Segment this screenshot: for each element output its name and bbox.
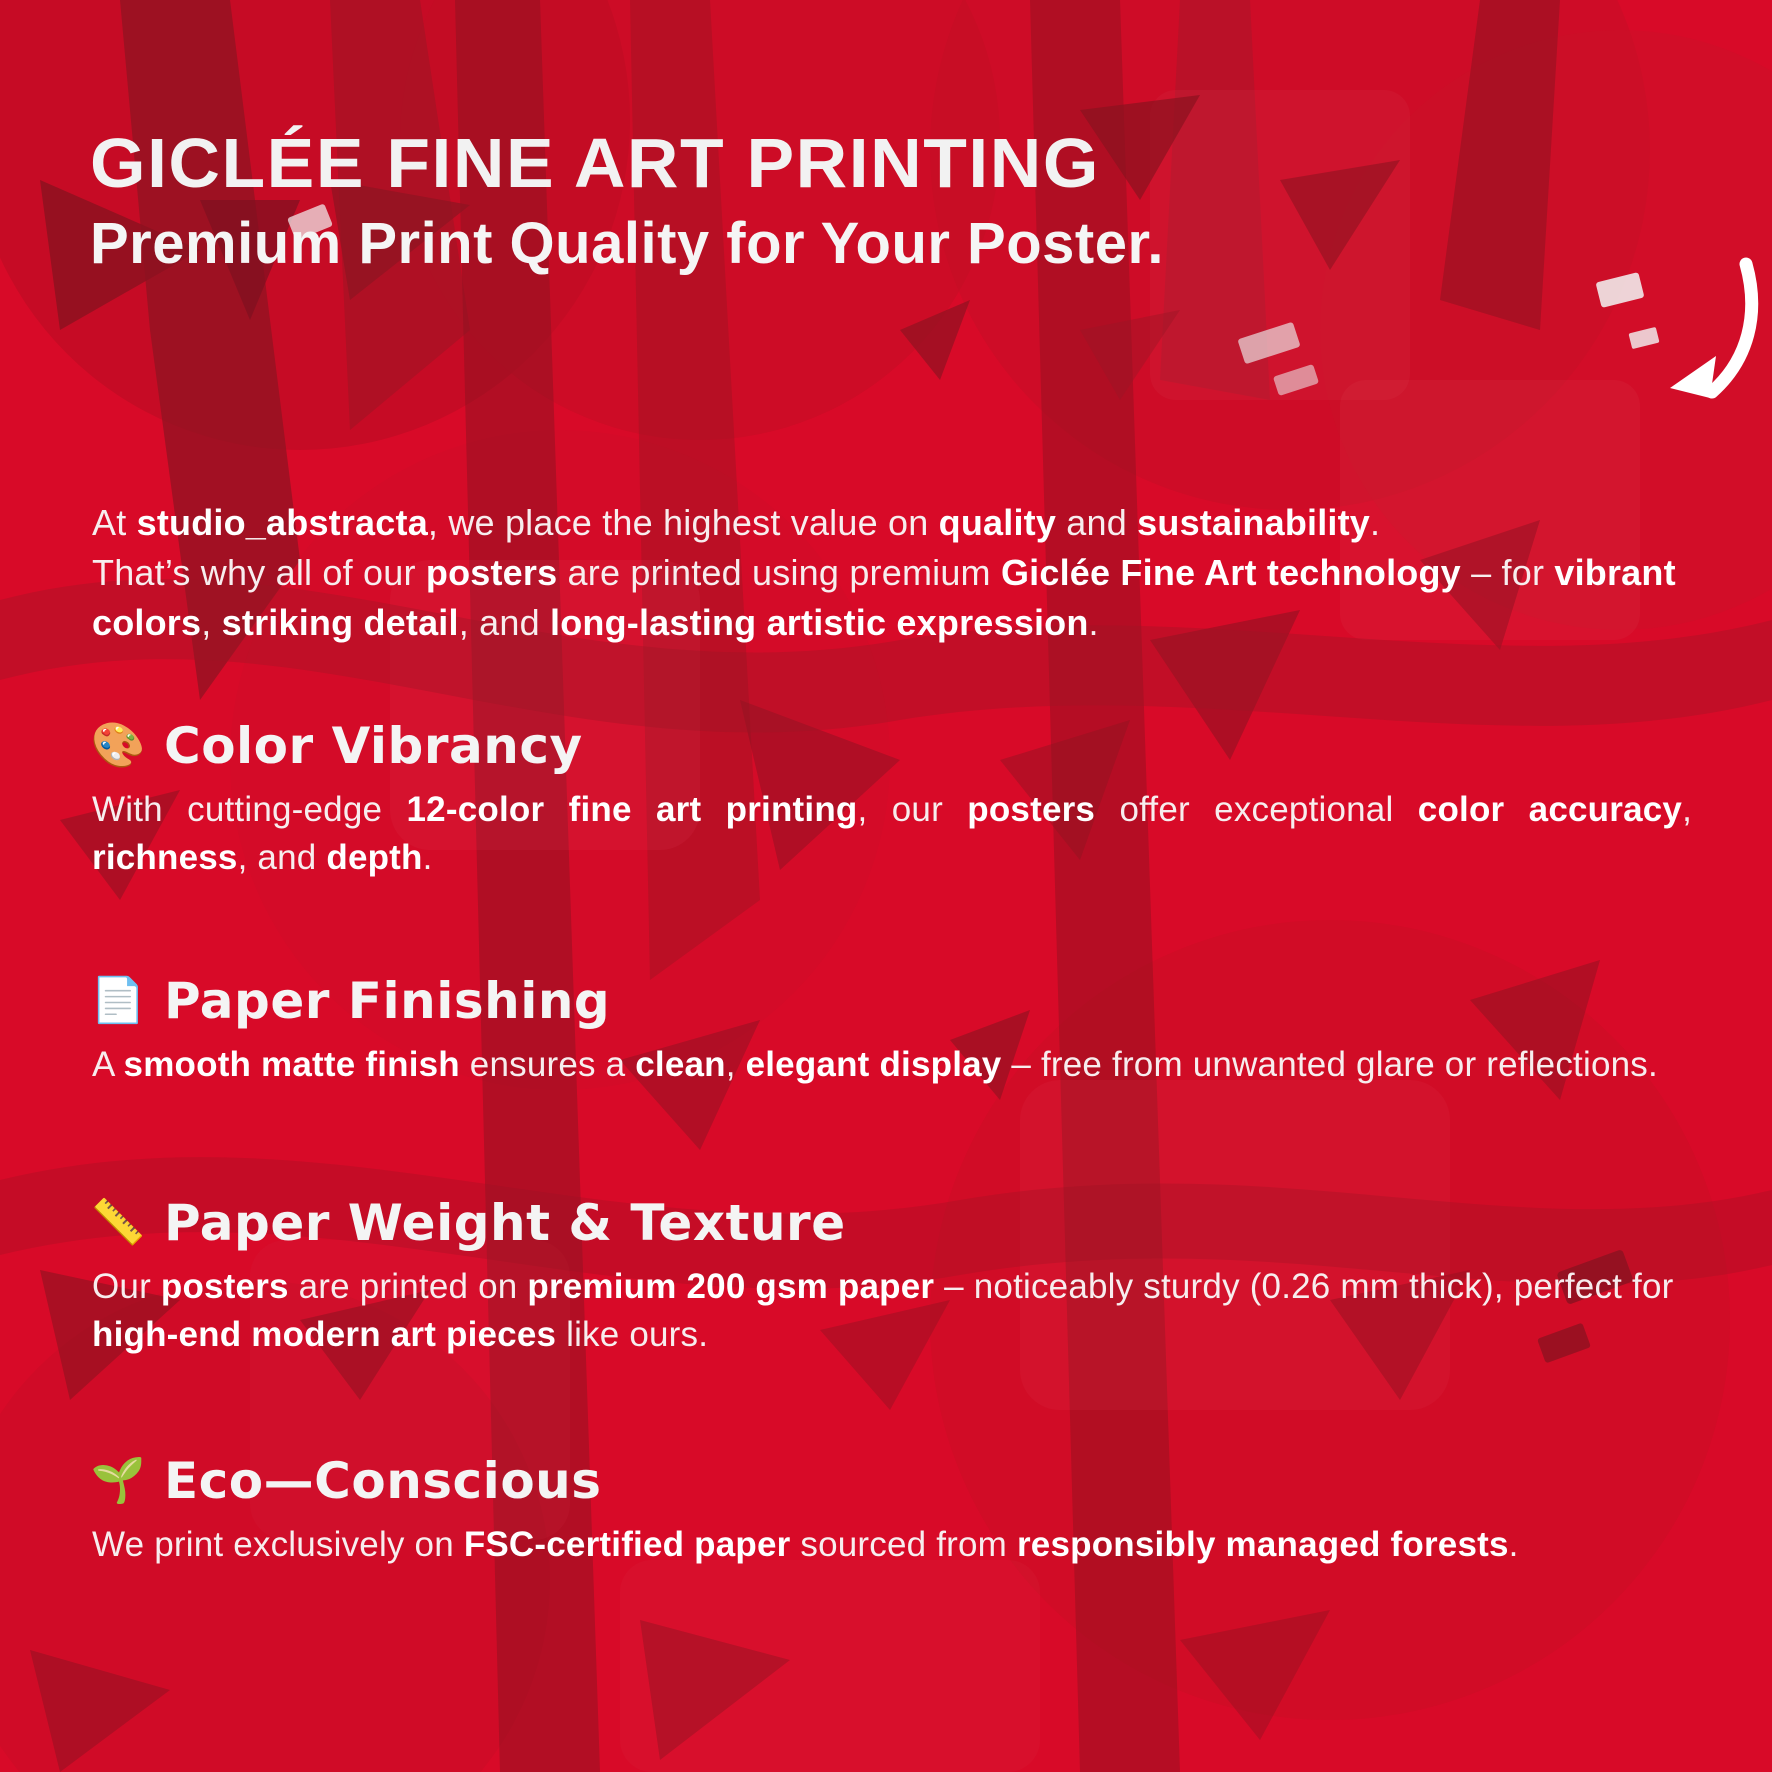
body-text: – noticeably sturdy (0.26 mm thick), per… — [934, 1267, 1673, 1306]
section-body: With cutting-edge 12-color fine art prin… — [92, 786, 1692, 882]
section-paper-weight-texture: 📏 Paper Weight & Texture Our posters are… — [92, 1197, 1702, 1359]
section-heading: 🌱 Eco—Conscious — [92, 1455, 1702, 1507]
hero-block: GICLÉE FINE ART PRINTING Premium Print Q… — [90, 128, 1690, 275]
keyword-fsc-certified-paper: FSC-certified paper — [464, 1525, 791, 1564]
body-text: We print exclusively on — [92, 1525, 464, 1564]
intro-text-7: – for — [1461, 552, 1554, 593]
body-text: . — [423, 838, 433, 877]
artist-palette-icon: 🎨 — [92, 720, 144, 772]
section-title: Paper Finishing — [164, 976, 610, 1026]
keyword-elegant-display: elegant display — [746, 1045, 1002, 1084]
body-text: , and — [238, 838, 327, 877]
body-text: Our — [92, 1267, 161, 1306]
section-heading: 📏 Paper Weight & Texture — [92, 1197, 1702, 1249]
keyword-giclee-technology: Giclée Fine Art technology — [1001, 552, 1461, 593]
body-text: A — [92, 1045, 124, 1084]
keyword-posters: posters — [161, 1267, 289, 1306]
intro-text-6: are printed using premium — [557, 552, 1001, 593]
section-color-vibrancy: 🎨 Color Vibrancy With cutting-edge 12-co… — [92, 720, 1702, 882]
body-text: offer exceptional — [1095, 790, 1418, 829]
page-title: GICLÉE FINE ART PRINTING — [90, 128, 1722, 198]
intro-paragraph: At studio_abstracta, we place the highes… — [92, 498, 1702, 648]
straight-ruler-icon: 📏 — [92, 1197, 144, 1249]
keyword-color-accuracy: color accuracy — [1418, 790, 1682, 829]
section-title: Eco—Conscious — [164, 1456, 602, 1506]
section-heading: 📄 Paper Finishing — [92, 975, 1702, 1027]
section-eco-conscious: 🌱 Eco—Conscious We print exclusively on … — [92, 1455, 1702, 1569]
keyword-posters: posters — [967, 790, 1095, 829]
intro-text-1: At — [92, 502, 137, 543]
body-text: ensures a — [460, 1045, 635, 1084]
intro-text-4: . — [1370, 502, 1380, 543]
section-paper-finishing: 📄 Paper Finishing A smooth matte finish … — [92, 975, 1702, 1089]
keyword-smooth-matte-finish: smooth matte finish — [124, 1045, 460, 1084]
keyword-high-end-modern-art: high-end modern art pieces — [92, 1315, 556, 1354]
intro-text-8: , — [201, 602, 221, 643]
section-body: We print exclusively on FSC-certified pa… — [92, 1521, 1702, 1569]
intro-text-3: and — [1056, 502, 1137, 543]
body-text: sourced from — [790, 1525, 1017, 1564]
keyword-posters: posters — [426, 552, 557, 593]
body-text: , our — [857, 790, 967, 829]
keyword-sustainability: sustainability — [1137, 502, 1370, 543]
intro-text-9: , and — [459, 602, 550, 643]
body-text: . — [1509, 1525, 1519, 1564]
page-subtitle: Premium Print Quality for Your Poster. — [90, 214, 1690, 275]
intro-text-5: That’s why all of our — [92, 552, 426, 593]
body-text: are printed on — [289, 1267, 528, 1306]
intro-text-2: , we place the highest value on — [428, 502, 939, 543]
body-text: – free from unwanted glare or reflection… — [1001, 1045, 1657, 1084]
section-body: A smooth matte finish ensures a clean, e… — [92, 1041, 1702, 1089]
keyword-quality: quality — [939, 502, 1056, 543]
keyword-managed-forests: responsibly managed forests — [1017, 1525, 1509, 1564]
keyword-striking-detail: striking detail — [222, 602, 459, 643]
body-text: , — [726, 1045, 746, 1084]
section-title: Color Vibrancy — [164, 721, 583, 771]
keyword-long-lasting: long-lasting artistic expression — [550, 602, 1089, 643]
seedling-icon: 🌱 — [92, 1455, 144, 1507]
brand-name: studio_abstracta — [137, 502, 428, 543]
keyword-200-gsm-paper: premium 200 gsm paper — [527, 1267, 934, 1306]
keyword-depth: depth — [326, 838, 422, 877]
section-body: Our posters are printed on premium 200 g… — [92, 1263, 1692, 1359]
body-text: like ours. — [556, 1315, 708, 1354]
body-text: With cutting-edge — [92, 790, 407, 829]
keyword-richness: richness — [92, 838, 238, 877]
intro-text-10: . — [1089, 602, 1099, 643]
keyword-12-color-printing: 12-color fine art printing — [407, 790, 858, 829]
curved-arrow-down-left-icon — [1600, 252, 1770, 432]
keyword-clean: clean — [635, 1045, 726, 1084]
page-document-icon: 📄 — [92, 975, 144, 1027]
body-text: , — [1682, 790, 1692, 829]
section-title: Paper Weight & Texture — [164, 1198, 846, 1248]
section-heading: 🎨 Color Vibrancy — [92, 720, 1702, 772]
